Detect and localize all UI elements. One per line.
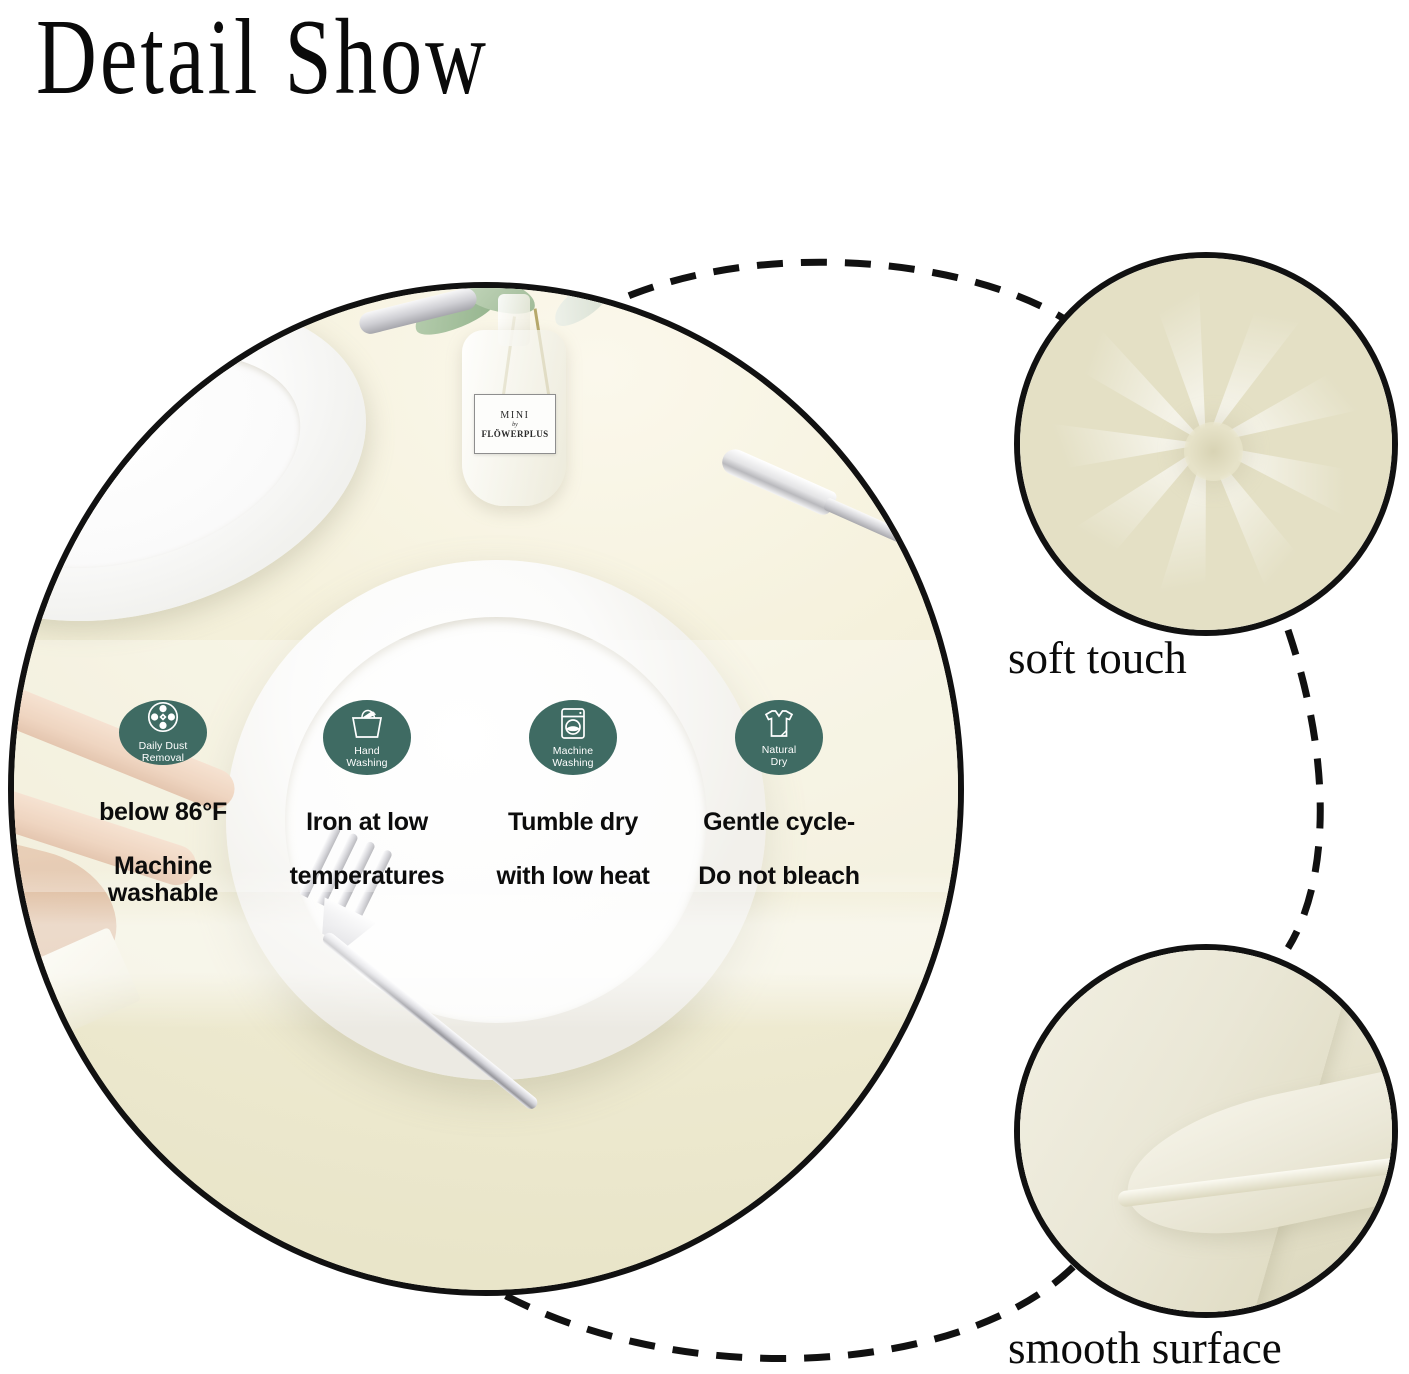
tshirt-icon (759, 706, 799, 742)
care-item-hand-washing: Hand Washing Iron at low temperatures (268, 700, 466, 890)
swirled-fabric (1020, 258, 1392, 630)
soft-touch-photo-circle (1014, 252, 1398, 636)
hand-wash-basin-icon (347, 705, 387, 743)
care-badge-label: Daily Dust Removal (139, 741, 188, 765)
care-caption: below 86°F Machine washable (64, 772, 262, 907)
care-item-daily-dust-removal: Daily Dust Removal below 86°F Machine wa… (64, 700, 262, 890)
care-badge: Daily Dust Removal (119, 700, 207, 765)
bottle-label-line3: FLÖWERPLUS (481, 429, 548, 439)
connector-middle (1288, 630, 1320, 948)
care-badge: Natural Dry (735, 700, 823, 775)
care-caption: Iron at low temperatures (290, 782, 445, 890)
care-badge: Hand Washing (323, 700, 411, 775)
detail-show-stage: MINI by FLÖWERPLUS (0, 0, 1409, 1374)
mini-flower-bottle: MINI by FLÖWERPLUS (454, 286, 576, 506)
smooth-surface-photo-circle (1014, 944, 1398, 1318)
care-instruction-row: Daily Dust Removal below 86°F Machine wa… (0, 700, 952, 890)
care-badge: Machine Washing (529, 700, 617, 775)
care-badge-label: Machine Washing (552, 746, 593, 770)
smooth-surface-caption: smooth surface (1008, 1322, 1282, 1374)
bottle-label-line1: MINI (500, 410, 529, 421)
care-item-machine-washing: Machine Washing Tumble dry with low heat (474, 700, 672, 890)
care-caption: Tumble dry with low heat (496, 782, 649, 890)
swirl-center (1184, 422, 1244, 482)
soft-touch-caption: soft touch (1008, 632, 1187, 684)
care-caption: Gentle cycle- Do not bleach (698, 782, 859, 890)
bottle-label: MINI by FLÖWERPLUS (474, 394, 556, 454)
folded-fabric (1020, 950, 1392, 1312)
care-item-natural-dry: Natural Dry Gentle cycle- Do not bleach (680, 700, 878, 890)
care-badge-label: Natural Dry (762, 745, 797, 769)
care-badge-label: Hand Washing (346, 746, 387, 770)
bottle-label-line2: by (512, 422, 518, 428)
washing-machine-icon (554, 705, 592, 743)
washer-drum-icon (143, 700, 183, 738)
